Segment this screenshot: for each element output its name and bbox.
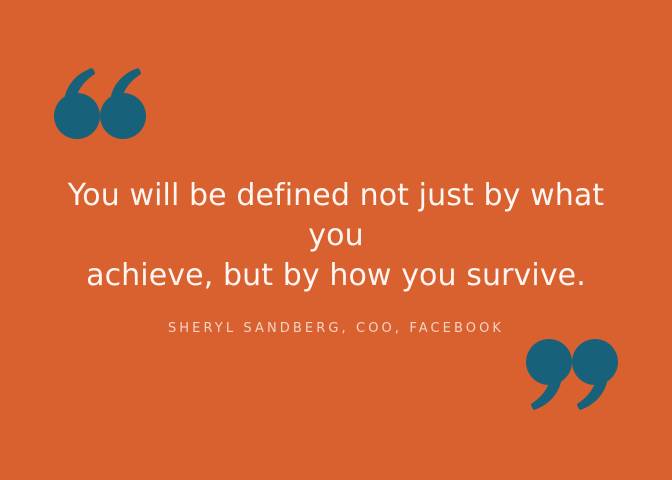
- quote-line-1: You will be defined not just by what you: [60, 176, 612, 256]
- quote-text-block: You will be defined not just by what you…: [0, 176, 672, 338]
- quote-attribution: Sheryl Sandberg, COO, Facebook: [0, 296, 672, 338]
- quote-line-2: achieve, but by how you survive.: [60, 256, 612, 296]
- close-quote-icon: [524, 336, 620, 412]
- quote-card: You will be defined not just by what you…: [0, 0, 672, 480]
- quote-text: You will be defined not just by what you…: [0, 176, 672, 296]
- open-quote-icon: [52, 66, 148, 142]
